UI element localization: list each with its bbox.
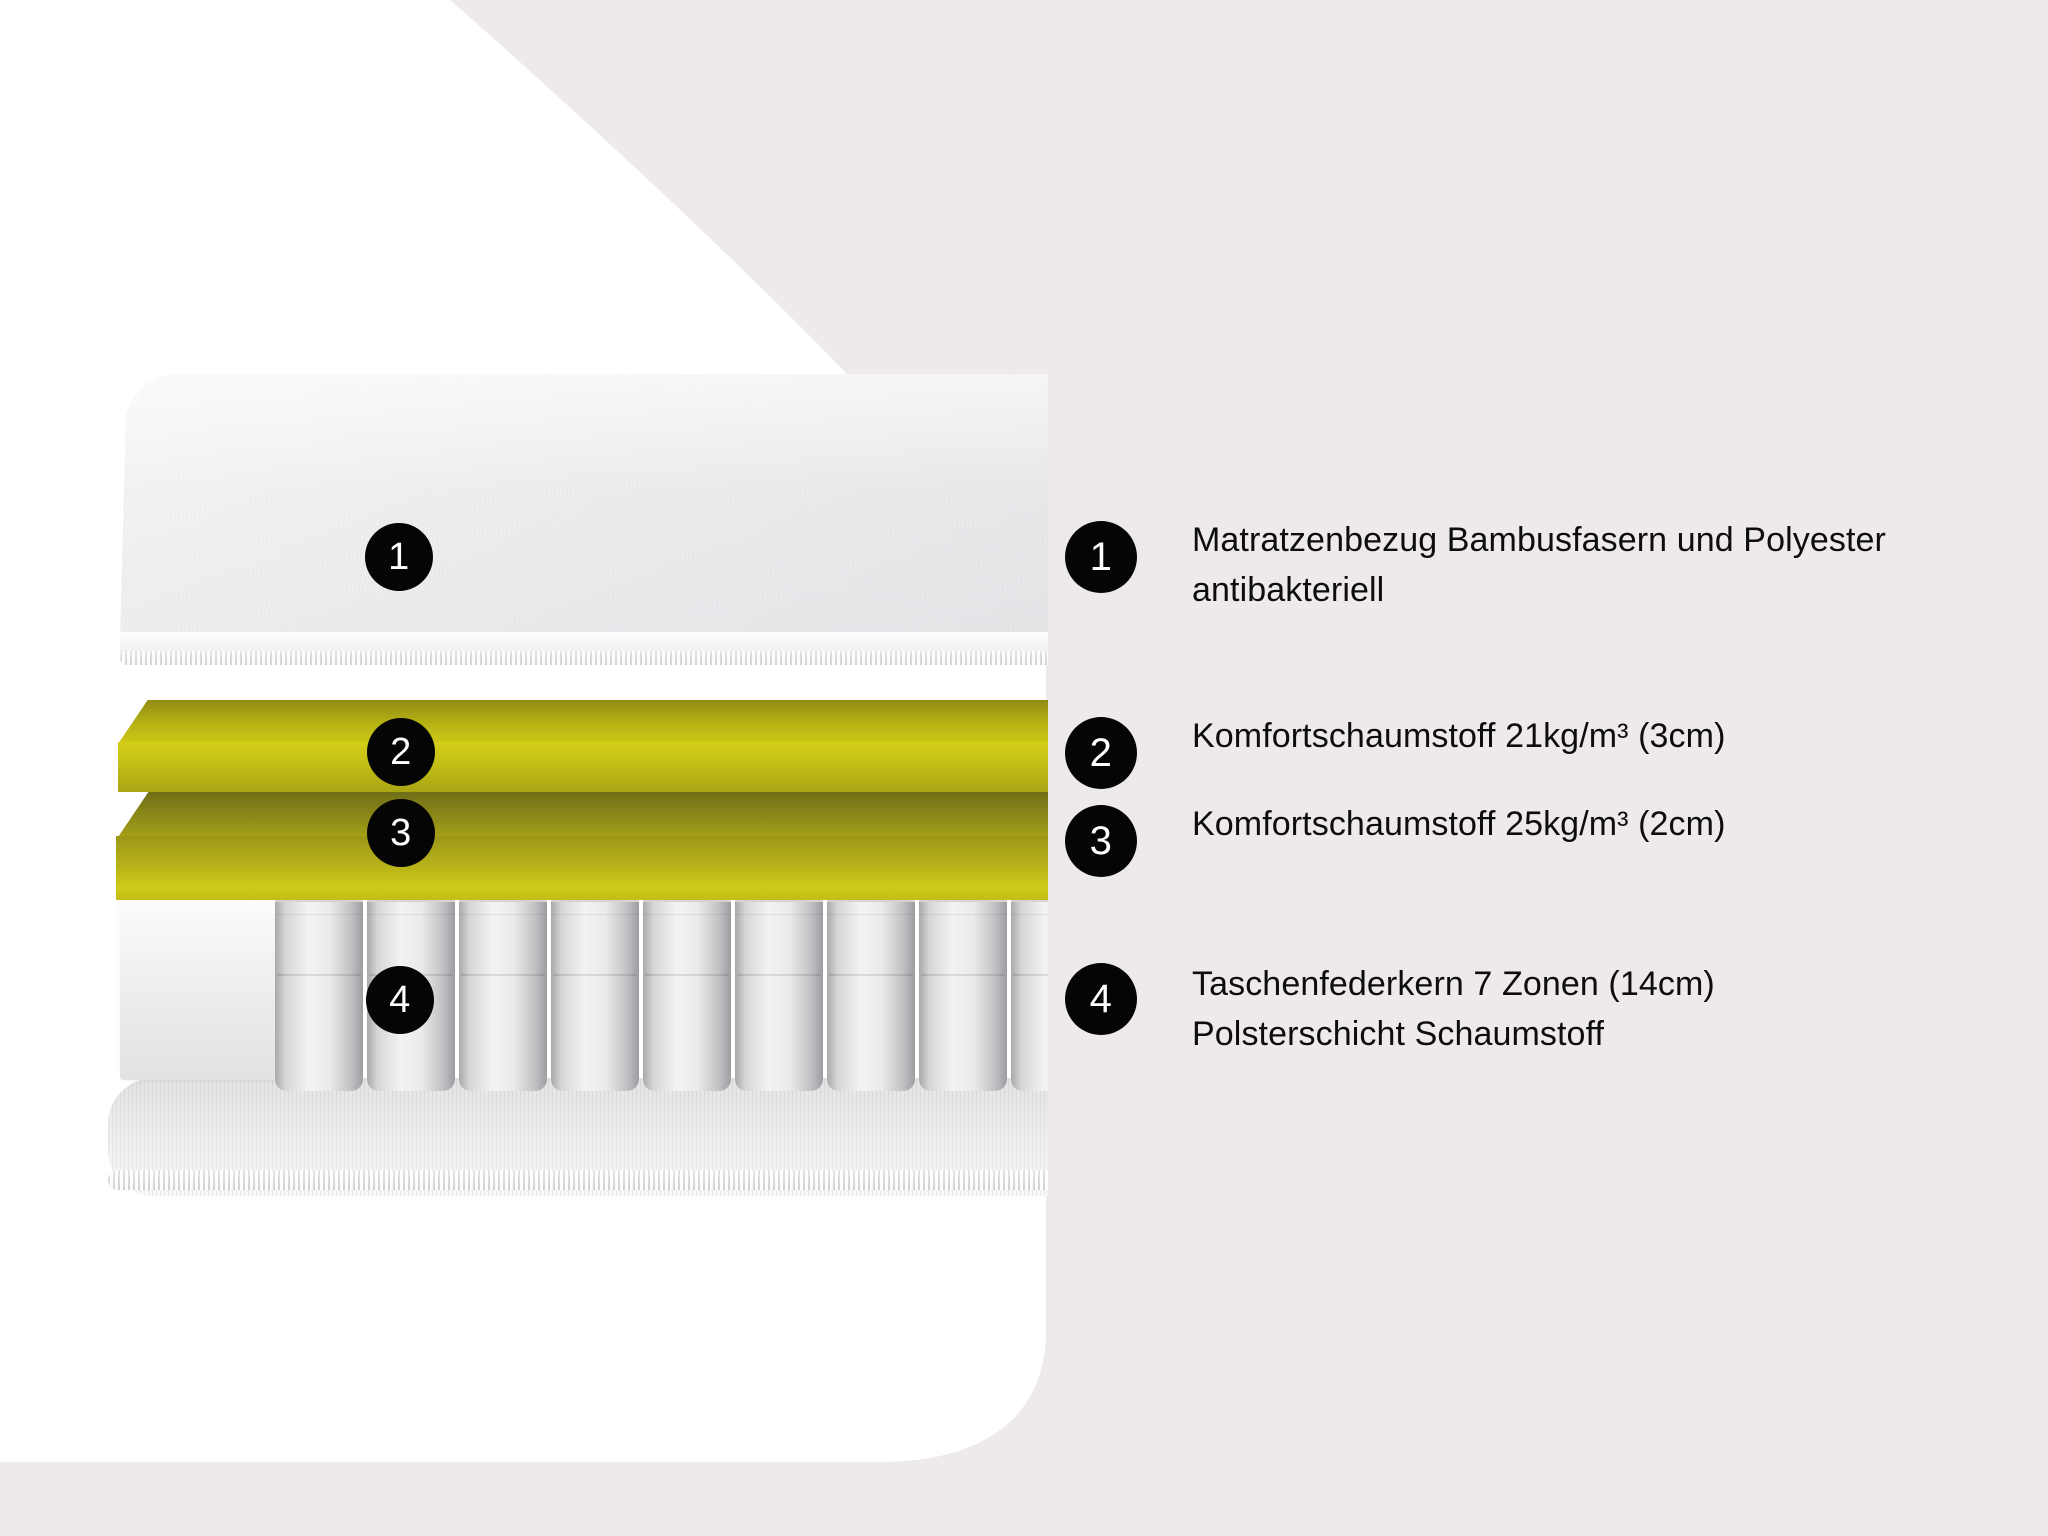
legend-item-2: 2 Komfortschaumstoff 21kg/m³ (3cm) — [1065, 717, 1726, 789]
mattress-cutaway-illustration: 1 2 3 4 — [0, 0, 1048, 1536]
legend-badge-4: 4 — [1065, 963, 1137, 1035]
legend-item-4: 4 Taschenfederkern 7 Zonen (14cm) Polste… — [1065, 935, 1715, 1059]
spring-coil-band — [735, 914, 823, 915]
spring-coil-band — [1011, 914, 1048, 915]
diagram-badge-2: 2 — [367, 718, 435, 786]
spring-coil-band — [459, 914, 547, 915]
mattress-cover-layer — [120, 370, 1048, 670]
diagram-badge-4: 4 — [366, 966, 434, 1034]
legend-label-4: Taschenfederkern 7 Zonen (14cm) Polsters… — [1192, 959, 1715, 1059]
comfort-foam-25-layer — [116, 790, 1048, 900]
base-piping — [108, 1170, 1048, 1190]
spring-coil-band — [643, 914, 731, 915]
legend-label-3: Komfortschaumstoff 25kg/m³ (2cm) — [1192, 799, 1726, 849]
spring-coil-band — [275, 914, 363, 915]
legend-label-1: Matratzenbezug Bambusfasern und Polyeste… — [1192, 515, 1886, 615]
foam-25-front-face — [116, 836, 1048, 900]
legend-list: 1 Matratzenbezug Bambusfasern und Polyes… — [1065, 0, 1965, 1536]
spring-coil-band — [827, 914, 915, 915]
diagram-badge-1: 1 — [365, 523, 433, 591]
foam-21-front-face — [118, 742, 1048, 792]
spring-coil-band — [919, 914, 1007, 915]
foam-25-top-face — [116, 790, 1048, 840]
cover-piping — [120, 651, 1048, 665]
legend-badge-2: 2 — [1065, 717, 1137, 789]
legend-label-2: Komfortschaumstoff 21kg/m³ (3cm) — [1192, 711, 1726, 761]
spring-coil-band — [367, 914, 455, 915]
pocket-spring-core-layer — [120, 880, 1048, 1120]
comfort-foam-21-layer — [118, 700, 1048, 792]
foam-21-top-face — [118, 700, 1048, 744]
legend-item-1: 1 Matratzenbezug Bambusfasern und Polyes… — [1065, 521, 1886, 615]
legend-badge-3: 3 — [1065, 805, 1137, 877]
legend-item-3: 3 Komfortschaumstoff 25kg/m³ (2cm) — [1065, 805, 1726, 877]
diagram-badge-3: 3 — [367, 799, 435, 867]
legend-badge-1: 1 — [1065, 521, 1137, 593]
spring-coil-band — [551, 914, 639, 915]
cover-top-surface — [120, 374, 1048, 638]
